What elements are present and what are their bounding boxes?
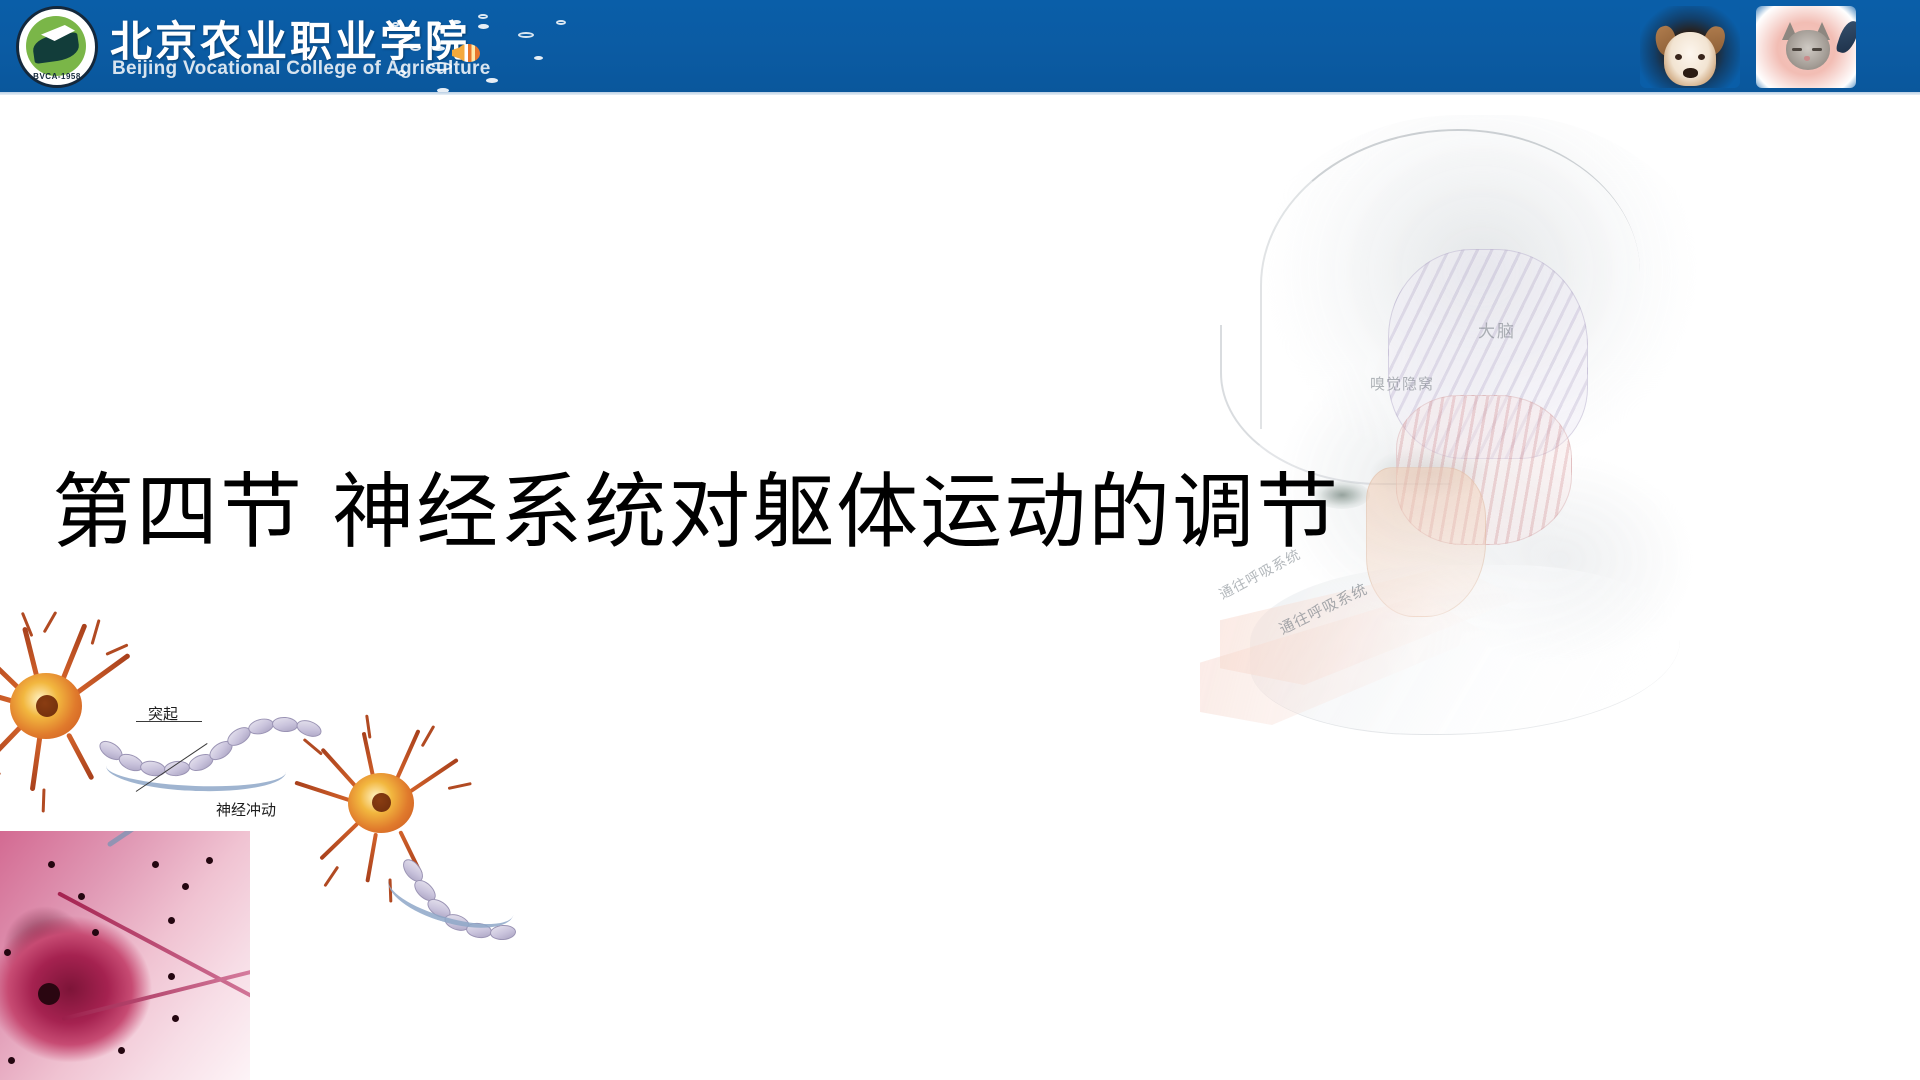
bubble-icon xyxy=(478,24,489,29)
dendrite xyxy=(320,748,359,791)
bubble-icon xyxy=(428,62,452,71)
bubble-icon xyxy=(410,44,421,51)
micrograph-nucleus-dot xyxy=(172,1015,179,1022)
bubble-icon xyxy=(556,20,566,25)
myelin-segment xyxy=(272,716,299,733)
micrograph-nucleus-dot xyxy=(8,1057,15,1064)
bubble-icon xyxy=(478,14,488,19)
fish-body xyxy=(458,44,480,62)
micrograph-process-2 xyxy=(62,969,250,1021)
cat-feather-toy xyxy=(1835,18,1856,55)
bulldog-puppy-photo xyxy=(1640,6,1740,88)
kitten-photo xyxy=(1756,6,1856,88)
dendrite xyxy=(319,822,359,861)
dog-eye-right xyxy=(1698,54,1705,60)
micrograph-nucleus-dot xyxy=(152,861,159,868)
dendrite xyxy=(66,732,95,780)
bubble-icon xyxy=(392,22,399,27)
neuron-nucleus-2 xyxy=(372,793,391,812)
dendrite-branch xyxy=(448,782,472,790)
myelin-segment xyxy=(294,717,324,740)
dendrite-branch xyxy=(421,725,436,747)
dendrite xyxy=(75,653,131,696)
micrograph-nucleus-dot xyxy=(168,917,175,924)
label-nerve-impulse: 神经冲动 xyxy=(216,799,276,820)
dendrite-branch xyxy=(0,772,1,793)
dendrite xyxy=(60,623,88,682)
micrograph-nucleus-dot xyxy=(168,973,175,980)
neuron-histology-micrograph xyxy=(0,831,250,1080)
micrograph-process-1 xyxy=(57,891,250,1003)
dog-eye-left xyxy=(1675,54,1682,60)
label-cerebrum: 大脑 xyxy=(1478,317,1516,342)
bubble-icon xyxy=(398,70,406,76)
micrograph-arrow xyxy=(107,831,156,848)
dendrite xyxy=(0,724,24,769)
label-process: 突起 xyxy=(148,703,178,724)
tropical-fish-icon xyxy=(452,42,482,64)
header-banner: BVCA-1958 北京农业职业学院 Beijing Vocational Co… xyxy=(0,0,1920,92)
page-title: 第四节 神经系统对躯体运动的调节 xyxy=(52,465,1812,562)
cat-eye-right xyxy=(1812,48,1822,51)
college-emblem-icon: BVCA-1958 xyxy=(16,6,98,88)
micrograph-nucleus-dot xyxy=(78,893,85,900)
dendrite xyxy=(365,833,378,883)
dendrite xyxy=(394,729,420,782)
neuron-nucleus-1 xyxy=(36,695,58,717)
dendrite xyxy=(294,781,352,803)
emblem-bvca-text: BVCA-1958 xyxy=(19,72,95,81)
bubble-icon xyxy=(452,20,461,24)
cat-eye-left xyxy=(1792,48,1802,51)
micrograph-nucleus-dot xyxy=(4,949,11,956)
label-olfactory-recess: 嗅觉隐窝 xyxy=(1370,373,1434,394)
bubble-icon xyxy=(534,56,543,60)
bubble-icon xyxy=(486,78,498,83)
dog-anatomy-illustration: 大脑 嗅觉隐窝 通往呼吸系统 通往呼吸系统 xyxy=(1070,95,1830,795)
micrograph-nucleus-dot xyxy=(92,929,99,936)
slide-body: 大脑 嗅觉隐窝 通往呼吸系统 通往呼吸系统 第四节 神经系统对躯体运动的调节 xyxy=(0,95,1920,1080)
micrograph-nucleolus xyxy=(38,983,60,1005)
micrograph-nucleus-dot xyxy=(118,1047,125,1054)
dendrite-branch xyxy=(42,788,46,812)
dendrite-branch xyxy=(303,738,323,756)
dendrite-branch xyxy=(43,611,58,633)
dendrite-branch xyxy=(91,619,101,645)
dendrite xyxy=(30,735,43,791)
cat-nose xyxy=(1804,56,1810,61)
micrograph-nucleus-dot xyxy=(182,883,189,890)
micrograph-nucleus-dot xyxy=(48,861,55,868)
bubble-icon xyxy=(518,32,534,38)
bubble-icon xyxy=(437,26,443,30)
micrograph-nucleus-dot xyxy=(206,857,213,864)
bubble-icon xyxy=(432,46,445,51)
dog-nose xyxy=(1683,68,1698,78)
dendrite-branch xyxy=(323,866,339,888)
